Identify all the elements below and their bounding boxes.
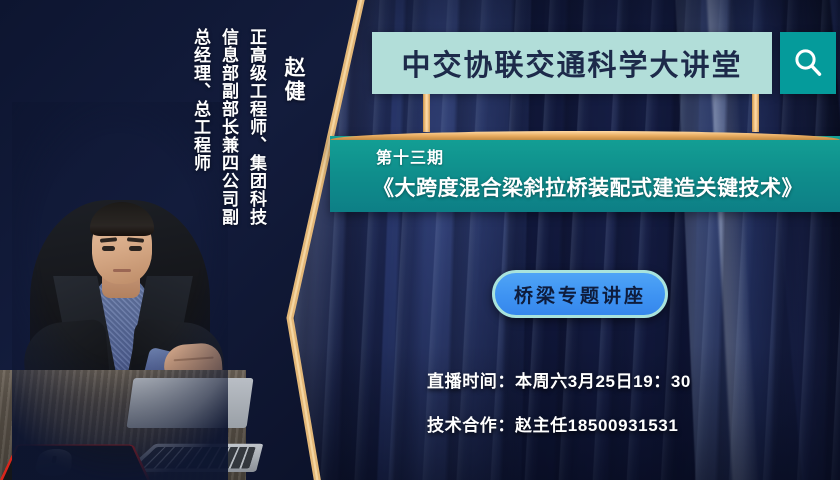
speaker-title-column-2: 信息部副部长兼四公司副 [220,28,237,226]
episode-topic: 《大跨度混合梁斜拉桥装配式建造关键技术》 [342,172,834,202]
broadcast-time: 直播时间：本周六3月25日19：30 [427,367,691,392]
search-icon [791,46,825,80]
gold-post-right [752,94,759,132]
speaker-photo [20,108,220,480]
computer-mouse [33,449,72,476]
speaker-name: 赵健 [283,56,304,104]
contact-info: 技术合作：赵主任18500931531 [427,411,678,436]
eye-left [102,246,115,251]
speaker-title-column-3: 总经理、总工程师 [192,28,209,172]
laptop-screen [126,378,253,428]
program-title-banner: 中交协联交通科学大讲堂 [372,32,772,94]
eye-right [129,246,142,251]
laptop-keyboard [134,447,256,468]
program-title-text: 中交协联交通科学大讲堂 [401,42,742,84]
category-badge-label: 桥梁专题讲座 [514,281,646,308]
mouth [113,269,131,272]
category-badge[interactable]: 桥梁专题讲座 [492,270,668,318]
episode-number: 第十三期 [376,144,444,168]
search-button[interactable] [780,32,836,94]
webinar-poster: 赵健 正高级工程师、集团科技 信息部副部长兼四公司副 总经理、总工程师 中交协联… [0,0,840,480]
gold-post-left [423,94,430,132]
mouse-pad [0,445,152,480]
speaker-title-column-1: 正高级工程师、集团科技 [248,28,265,226]
episode-banner: 第十三期 《大跨度混合梁斜拉桥装配式建造关键技术》 [330,136,840,212]
